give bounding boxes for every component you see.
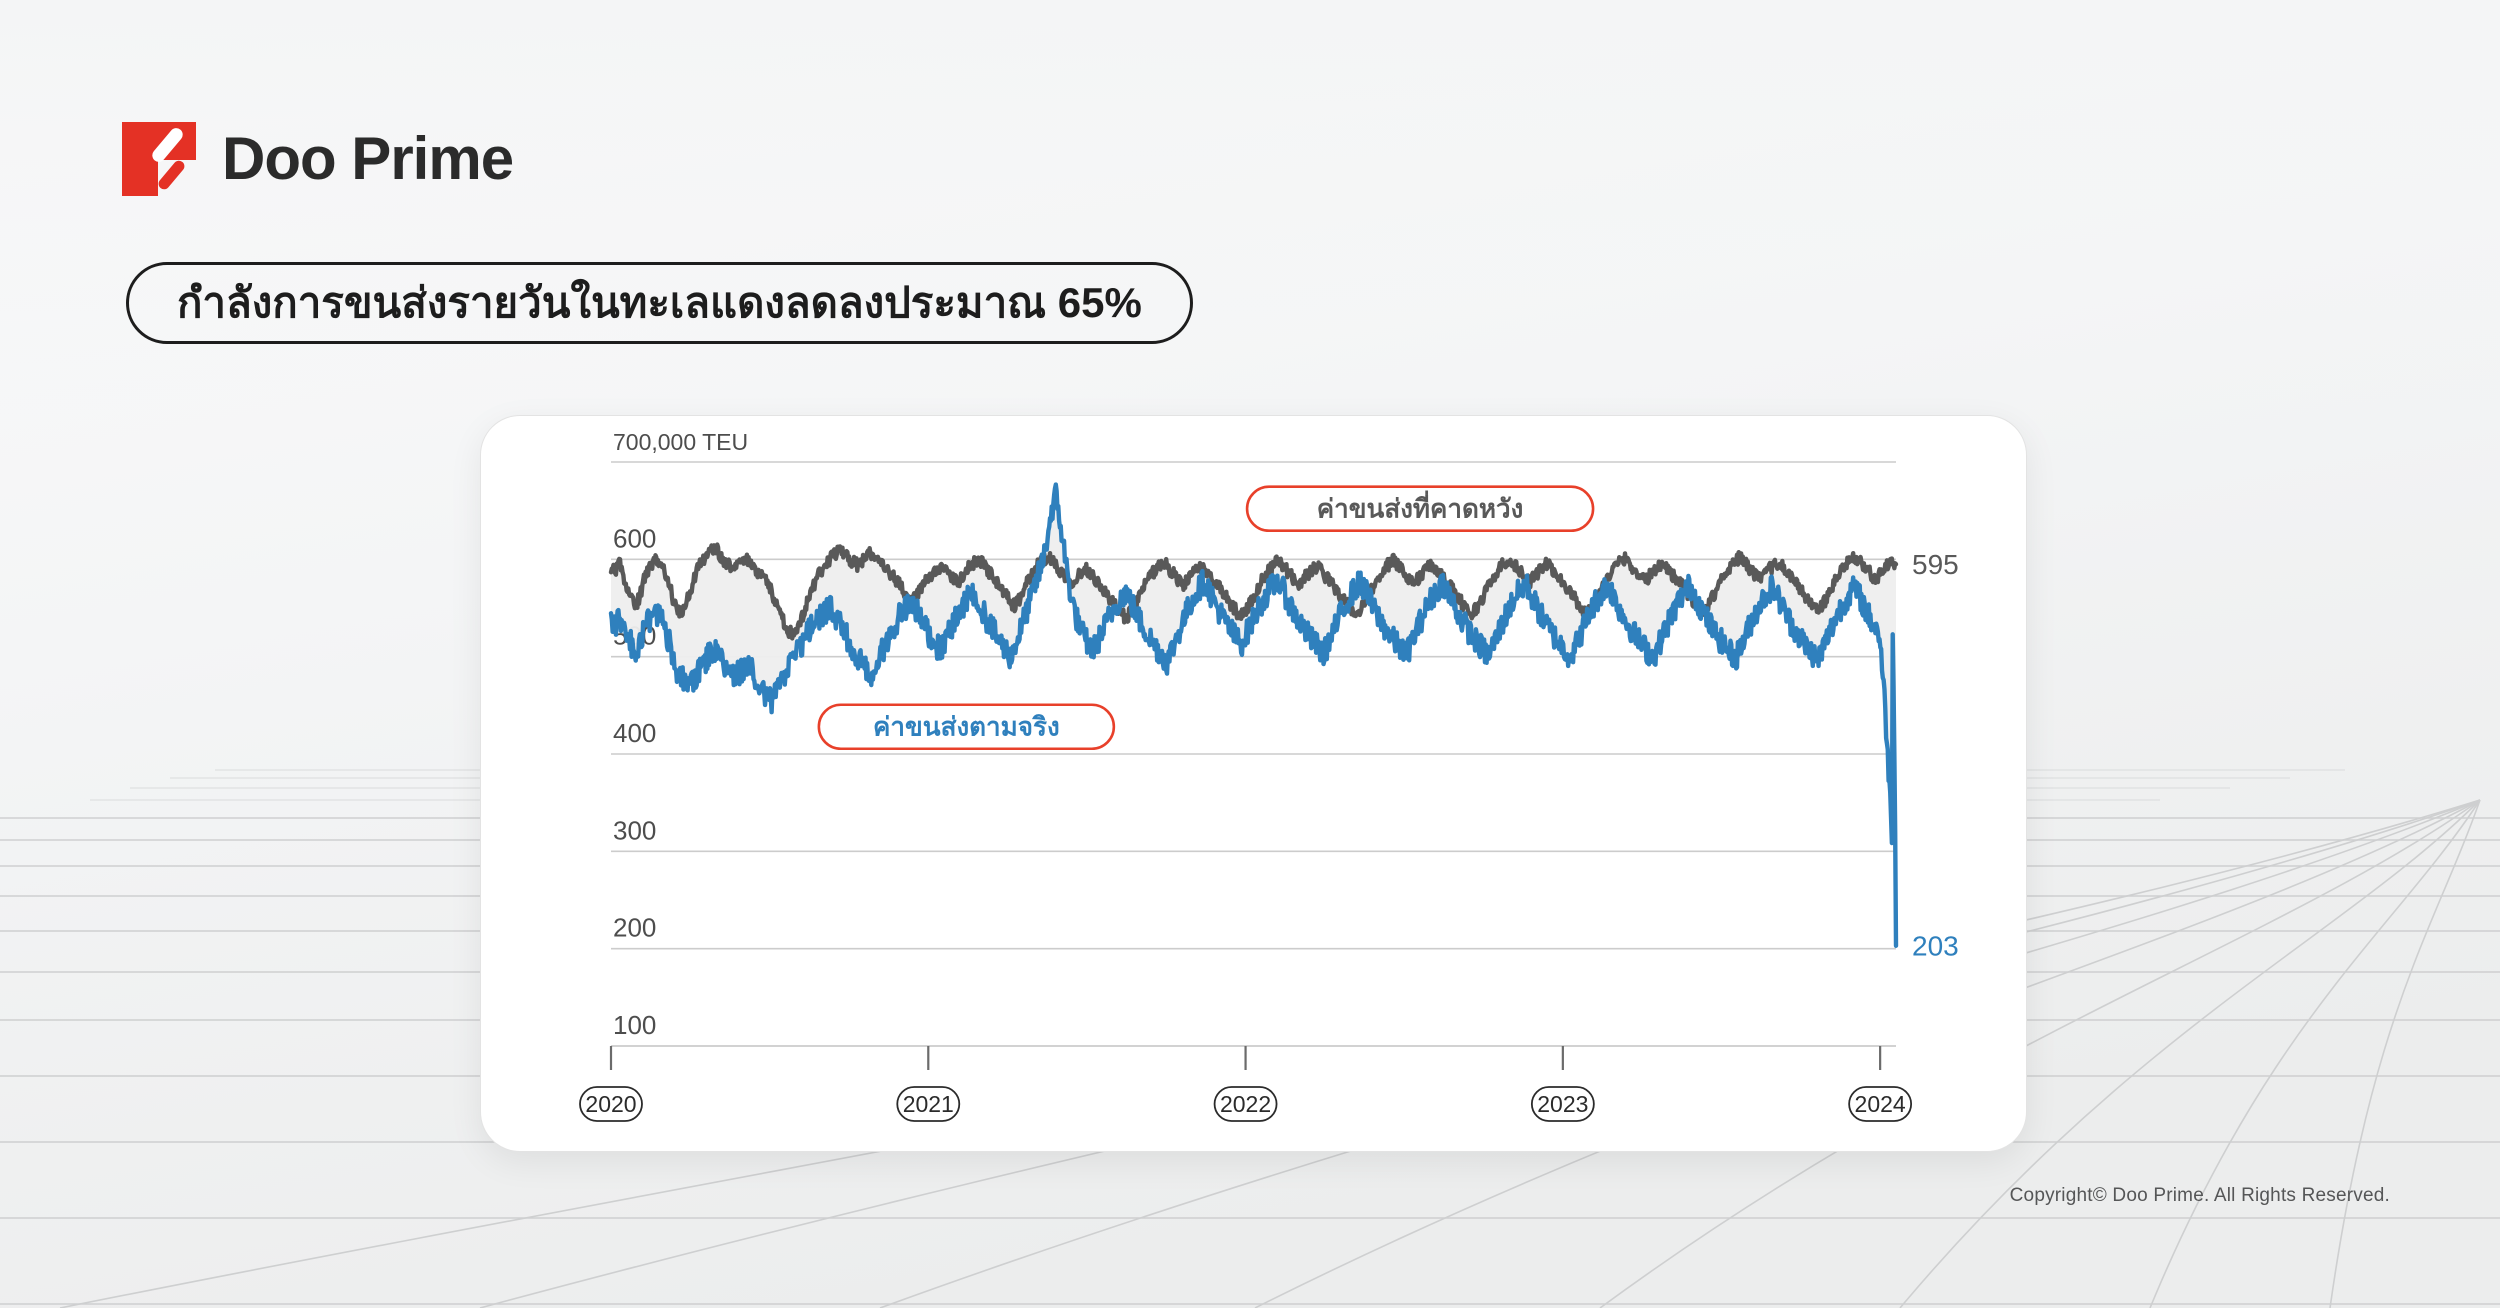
y-axis-tick-label: 600 bbox=[613, 523, 656, 553]
y-axis-tick-label: 200 bbox=[613, 913, 656, 943]
series-end-value-label: 203 bbox=[1912, 931, 1959, 962]
series-end-value-label: 595 bbox=[1912, 549, 1959, 580]
copyright-text: Copyright© Doo Prime. All Rights Reserve… bbox=[2010, 1185, 2390, 1207]
legend-label: ค่าขนส่งตามจริง bbox=[873, 712, 1060, 742]
x-axis-year-label: 2024 bbox=[1855, 1091, 1906, 1117]
chart-card: 700,000 TEU60050040030020010020202021202… bbox=[480, 415, 2027, 1152]
actual-series-line bbox=[611, 485, 1896, 946]
series-band-fill bbox=[611, 485, 1896, 946]
doo-prime-logo-icon bbox=[122, 122, 196, 196]
y-axis-tick-label: 700,000 TEU bbox=[613, 429, 748, 455]
brand-name: Doo Prime bbox=[222, 129, 513, 189]
x-axis-year-label: 2022 bbox=[1220, 1091, 1271, 1117]
y-axis-tick-label: 100 bbox=[613, 1010, 656, 1040]
legend-label: ค่าขนส่งที่คาดหวัง bbox=[1317, 490, 1524, 524]
y-axis-tick-label: 300 bbox=[613, 815, 656, 845]
headline-pill: กำลังการขนส่งรายวันในทะเลแดงลดลงประมาณ 6… bbox=[126, 262, 1193, 344]
brand-header: Doo Prime bbox=[122, 122, 513, 196]
shipping-capacity-line-chart: 700,000 TEU60050040030020010020202021202… bbox=[481, 416, 2026, 1151]
x-axis-year-label: 2020 bbox=[585, 1091, 636, 1117]
y-axis-tick-label: 400 bbox=[613, 718, 656, 748]
x-axis-year-label: 2023 bbox=[1537, 1091, 1588, 1117]
x-axis-year-label: 2021 bbox=[903, 1091, 954, 1117]
headline-text: กำลังการขนส่งรายวันในทะเลแดงลดลงประมาณ 6… bbox=[177, 282, 1142, 324]
